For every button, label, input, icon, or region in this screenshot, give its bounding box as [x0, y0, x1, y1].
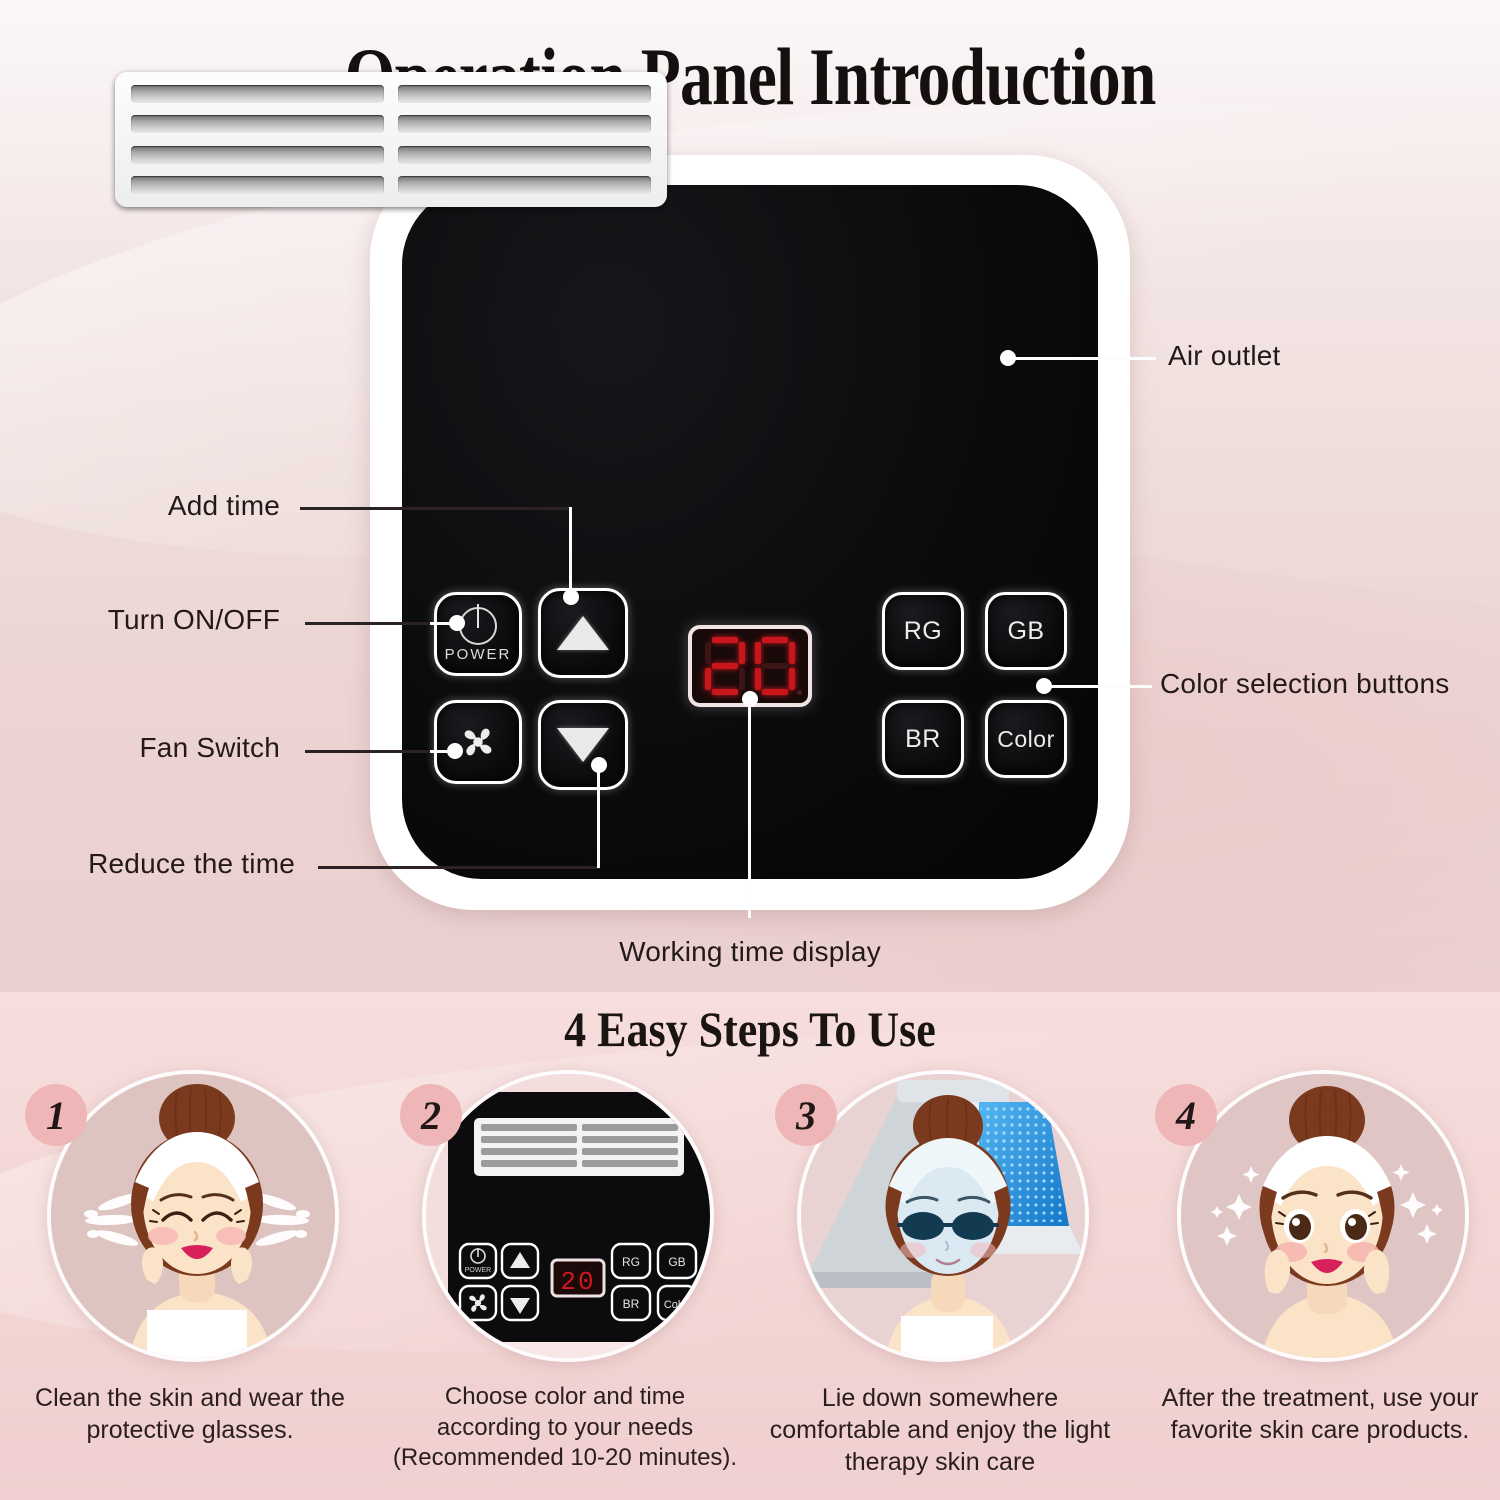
power-button-label: POWER [445, 647, 512, 662]
callout-dot-add-time [563, 589, 579, 605]
svg-text:POWER: POWER [465, 1267, 491, 1274]
grille-slot [131, 146, 384, 164]
callout-line-fan-switch-dark [305, 750, 435, 753]
svg-text:20: 20 [560, 1267, 595, 1297]
step-3-badge: 3 [775, 1084, 837, 1146]
color-button-color[interactable]: Color [985, 700, 1067, 778]
grille-row [131, 146, 651, 164]
grille-slot [398, 85, 651, 103]
led-digit-tens [705, 637, 745, 695]
woman-washing-face-illustration [51, 1074, 339, 1362]
svg-text:RG: RG [622, 1255, 640, 1269]
callout-line-add-time-v [569, 507, 572, 599]
svg-text:GB: GB [668, 1255, 685, 1269]
callout-line-air-outlet [1008, 357, 1156, 360]
fan-switch-button[interactable] [434, 700, 522, 784]
color-button-rg-label: RG [904, 617, 943, 646]
color-button-br[interactable]: BR [882, 700, 964, 778]
power-symbol-icon [459, 607, 497, 645]
led-digit-ones [755, 637, 795, 695]
callout-dot-turn-on-off [449, 615, 465, 631]
callout-line-working-time [748, 700, 751, 918]
callout-working-time: Working time display [0, 936, 1500, 968]
step-1-image [47, 1070, 339, 1362]
woman-under-led-device-illustration [801, 1074, 1089, 1362]
grille-row [131, 115, 651, 133]
callout-turn-on-off: Turn ON/OFF [0, 604, 280, 636]
grille-row [131, 85, 651, 103]
callout-dot-working-time [742, 691, 758, 707]
color-button-gb-label: GB [1007, 617, 1044, 646]
grille-row [131, 176, 651, 194]
step-4-caption: After the treatment, use your favorite s… [1147, 1382, 1493, 1446]
callout-color-selection: Color selection buttons [1160, 668, 1449, 700]
callout-line-reduce-time-v [597, 768, 600, 868]
step-3-image [797, 1070, 1089, 1362]
step-2-badge: 2 [400, 1084, 462, 1146]
infographic-root: Operation Panel Introduction POWER [0, 0, 1500, 1500]
control-panel-illustration: POWER RG GB BR Color 20 [426, 1074, 714, 1362]
power-button[interactable]: POWER [434, 592, 522, 676]
grille-slot [398, 176, 651, 194]
grille-slot [131, 176, 384, 194]
step-2-caption: Choose color and time according to your … [392, 1382, 738, 1474]
step-4-image [1177, 1070, 1469, 1362]
step-1-badge: 1 [25, 1084, 87, 1146]
triangle-up-icon [557, 616, 609, 650]
grille-slot [398, 146, 651, 164]
callout-fan-switch: Fan Switch [0, 732, 280, 764]
callout-dot-air-outlet [1000, 350, 1016, 366]
color-button-gb[interactable]: GB [985, 592, 1067, 670]
callout-line-color-selection [1046, 685, 1152, 688]
step-2-image: POWER RG GB BR Color 20 [422, 1070, 714, 1362]
callout-line-turn-on-off-dark [305, 622, 435, 625]
grille-slot [398, 115, 651, 133]
callout-line-add-time-h [300, 507, 572, 510]
reduce-time-button[interactable] [538, 700, 628, 790]
air-outlet-grille [115, 72, 667, 207]
svg-text:BR: BR [623, 1297, 640, 1311]
woman-applying-skincare-illustration [1181, 1074, 1469, 1362]
callout-dot-fan-switch [447, 743, 463, 759]
grille-slot [131, 115, 384, 133]
callout-dot-reduce-time [591, 757, 607, 773]
callout-dot-color-selection [1036, 678, 1052, 694]
callout-add-time: Add time [0, 490, 280, 522]
color-button-color-label: Color [997, 726, 1054, 753]
steps-section-title: 4 Easy Steps To Use [90, 1000, 1410, 1058]
step-4-badge: 4 [1155, 1084, 1217, 1146]
callout-line-reduce-time-h [318, 866, 600, 869]
grille-slot [131, 85, 384, 103]
callout-air-outlet: Air outlet [1168, 340, 1281, 372]
color-button-br-label: BR [905, 725, 941, 754]
step-1-caption: Clean the skin and wear the protective g… [17, 1382, 363, 1446]
color-button-rg[interactable]: RG [882, 592, 964, 670]
fan-blade-icon [455, 719, 501, 765]
step-3-caption: Lie down somewhere comfortable and enjoy… [767, 1382, 1113, 1478]
callout-reduce-time: Reduce the time [0, 848, 295, 880]
add-time-button[interactable] [538, 588, 628, 678]
